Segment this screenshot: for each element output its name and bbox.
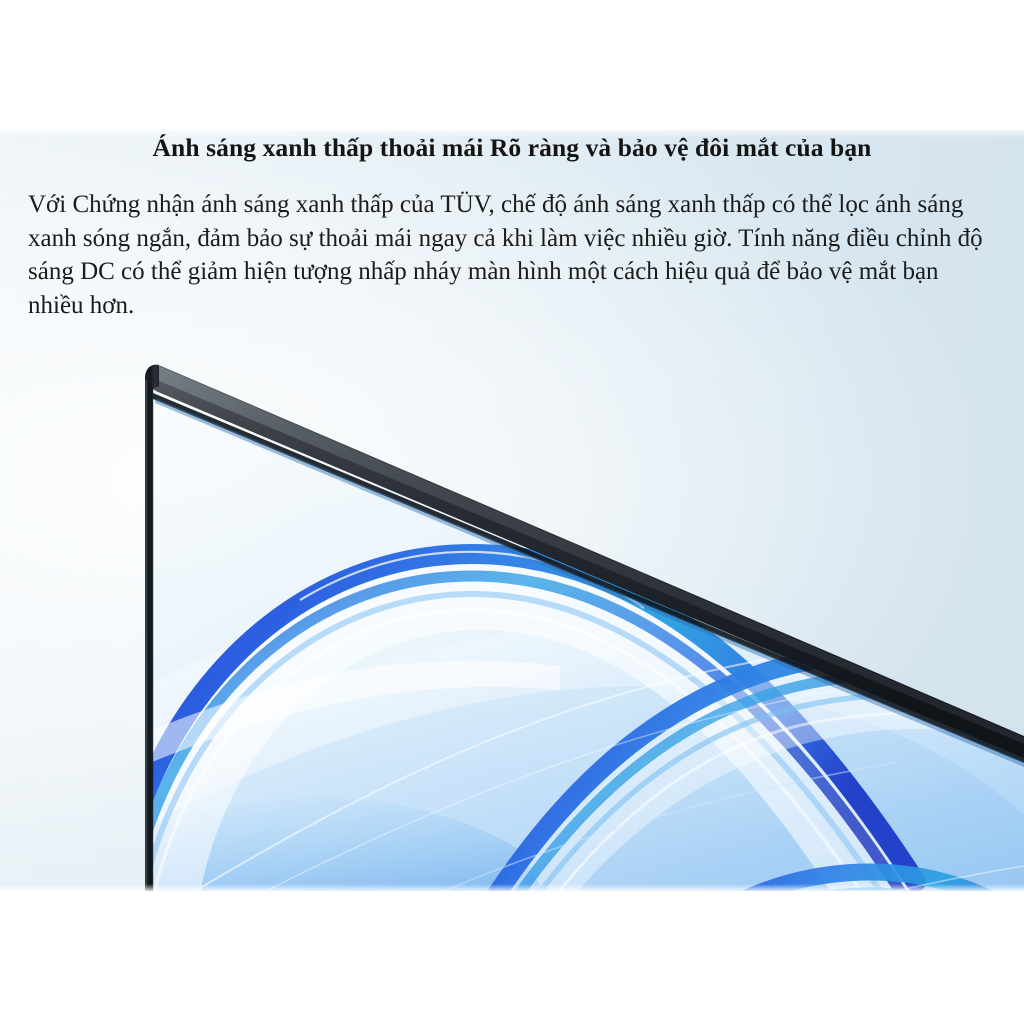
description-paragraph: Với Chứng nhận ánh sáng xanh thấp của TÜ…: [0, 188, 1024, 322]
background-bottom-fade: [0, 884, 1024, 894]
banner-root: Ánh sáng xanh thấp thoải mái Rõ ràng và …: [0, 0, 1024, 1024]
text-content: Ánh sáng xanh thấp thoải mái Rõ ràng và …: [0, 131, 1024, 322]
page-title: Ánh sáng xanh thấp thoải mái Rõ ràng và …: [0, 131, 1024, 165]
monitor-screen: [110, 380, 1024, 891]
